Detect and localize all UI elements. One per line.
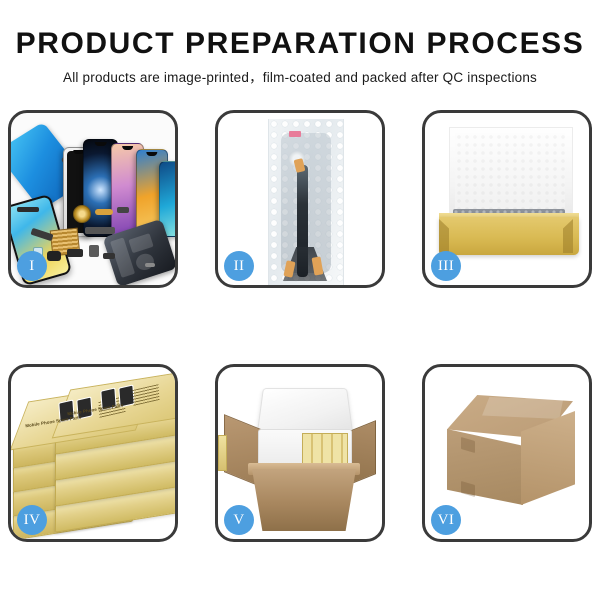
process-step-panel-1: I (8, 110, 178, 288)
product-preparation-infographic: PRODUCT PREPARATION PROCESS All products… (0, 0, 600, 600)
carton-front-face-icon (447, 429, 523, 505)
vibration-motor-icon (73, 205, 91, 223)
spare-part-icon (95, 209, 113, 215)
process-step-panel-4: Mobile Phone Spare Parts Mobile Phone Sp… (8, 364, 178, 542)
spare-part-icon (85, 227, 115, 234)
carton-body-icon (252, 469, 356, 531)
spare-part-icon (47, 251, 61, 261)
spare-part-icon (103, 253, 115, 259)
kraft-box-body-icon (439, 217, 579, 255)
notch-icon (122, 146, 134, 150)
step-number-badge-3: III (431, 251, 461, 281)
page-title: PRODUCT PREPARATION PROCESS (0, 26, 600, 62)
step-number-badge-2: II (224, 251, 254, 281)
foam-sheet-icon (455, 133, 565, 219)
housing-detail (134, 252, 156, 273)
process-step-panel-2: II (215, 110, 385, 288)
process-step-grid: I II (8, 110, 592, 542)
step-number-badge-5: V (224, 505, 254, 535)
spare-part-icon (67, 249, 83, 257)
housing-detail (128, 233, 153, 253)
spare-part-icon (145, 263, 155, 267)
spare-part-icon (89, 245, 99, 257)
yellow-box-icon (218, 435, 227, 471)
notch-icon (94, 142, 107, 146)
step-number-badge-6: VI (431, 505, 461, 535)
process-step-panel-5: V (215, 364, 385, 542)
spare-part-icon (117, 207, 129, 213)
process-step-panel-3: III (422, 110, 592, 288)
spare-part-icon (17, 207, 39, 212)
bubble-wrap-sleeve-icon (268, 119, 344, 285)
pink-label-tab-icon (289, 131, 301, 137)
step-number-badge-1: I (17, 251, 47, 281)
process-step-panel-6: VI (422, 364, 592, 542)
step-number-badge-4: IV (17, 505, 47, 535)
page-subtitle: All products are image-printed，film-coat… (0, 68, 600, 88)
notch-icon (146, 152, 157, 156)
header: PRODUCT PREPARATION PROCESS All products… (0, 0, 600, 88)
